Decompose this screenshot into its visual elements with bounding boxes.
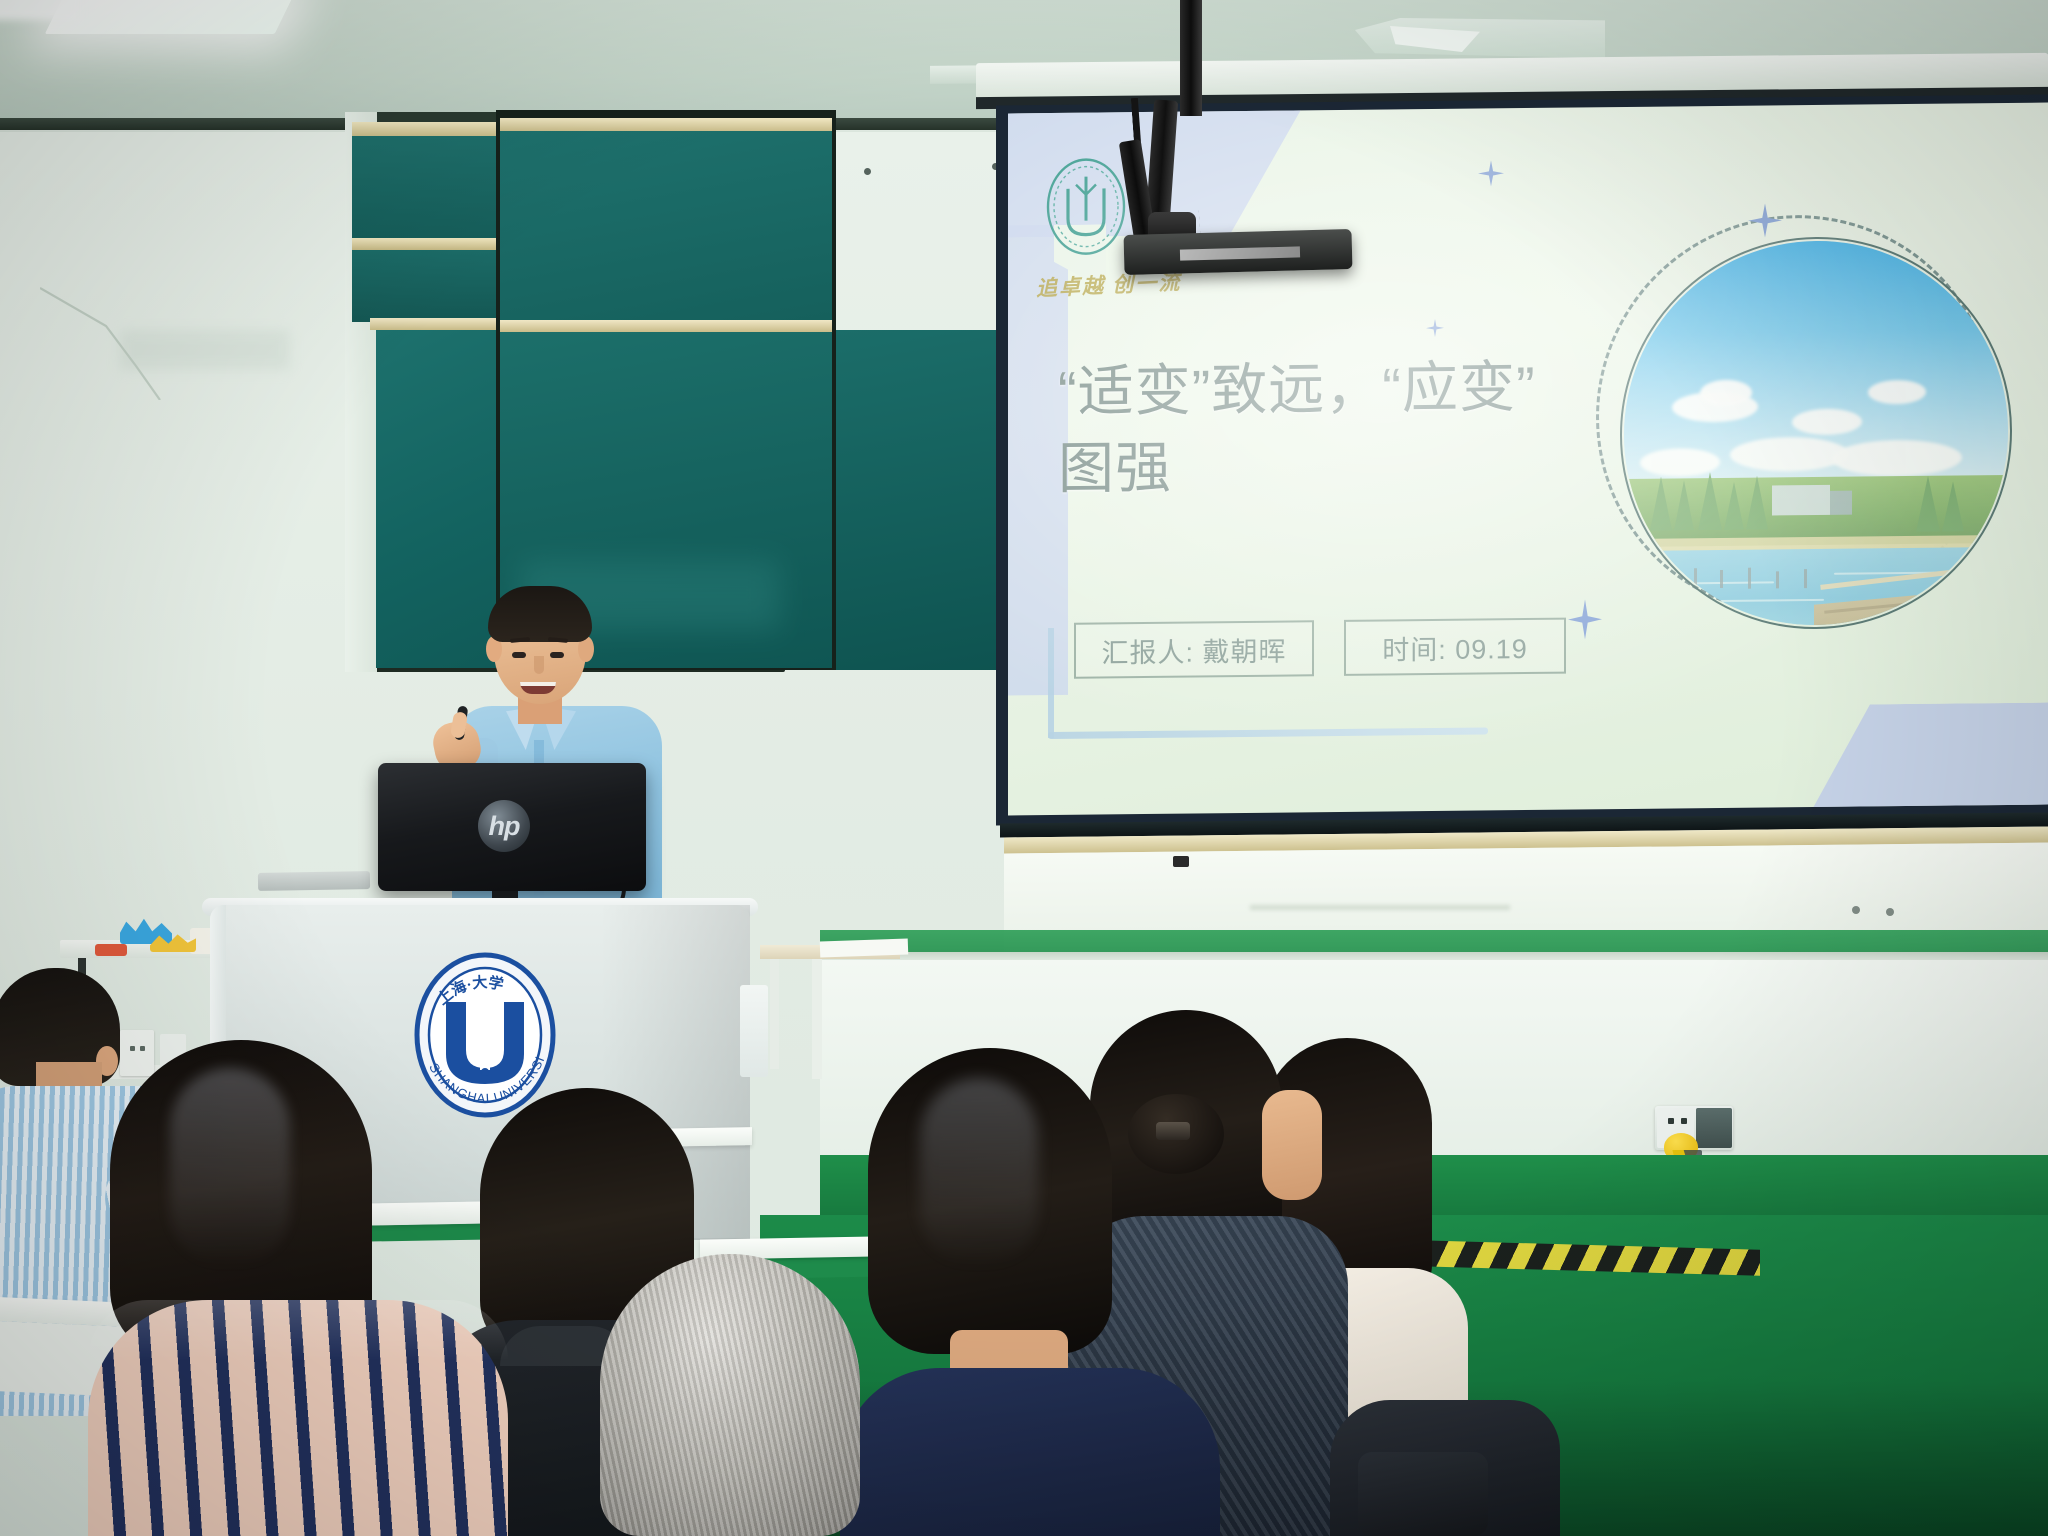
audience-e-hair-sheen	[920, 1078, 1038, 1268]
audience-e-body	[840, 1368, 1220, 1536]
shanghai-university-emblem: 上海·大学 SHANGHAI UNIVERSITY	[400, 950, 570, 1120]
wall-outlet-cover[interactable]	[1696, 1108, 1732, 1148]
podium-side-panel	[740, 985, 768, 1077]
audience-d-hair-texture	[600, 1254, 860, 1536]
ceiling-damage-patch	[1355, 18, 1605, 58]
bag	[1358, 1452, 1488, 1536]
whiteboard-scuff	[1250, 905, 1510, 910]
presenter-eye-left	[512, 652, 526, 658]
ceiling-light-panel	[45, 0, 295, 34]
side-desk-leg	[812, 959, 822, 1079]
chalk-rail-center-top	[500, 118, 832, 131]
audience-b-hair-sheen	[170, 1068, 290, 1268]
audience-b-shoulder-highlight	[88, 1300, 508, 1360]
classroom-photo: 追卓越 创一流 “适变”致远，“应变” 图强 汇报人: 戴朝晖 时间: 09.1…	[0, 0, 2048, 1536]
whiteboard-clip	[1173, 856, 1189, 867]
blackboard-center-upper	[500, 131, 832, 321]
presenter-eye-right	[550, 652, 564, 658]
presenter-nose	[534, 656, 544, 674]
light-switch-plate[interactable]	[120, 1030, 154, 1076]
papers-on-desk	[820, 938, 909, 957]
side-desk-leg-2	[770, 959, 779, 1069]
hp-logo-icon: hp	[478, 800, 530, 852]
wall-crack	[40, 270, 250, 400]
ceiling-light-glow	[0, 0, 80, 20]
audience-f-face	[1262, 1090, 1322, 1200]
presenter-hair	[488, 586, 592, 642]
toy-block-red	[95, 944, 127, 956]
hair-clip	[1156, 1122, 1190, 1140]
keyboard[interactable]	[258, 871, 370, 891]
chalk-rail-center-mid	[500, 320, 832, 332]
blackboard-right-segment	[836, 330, 1016, 670]
